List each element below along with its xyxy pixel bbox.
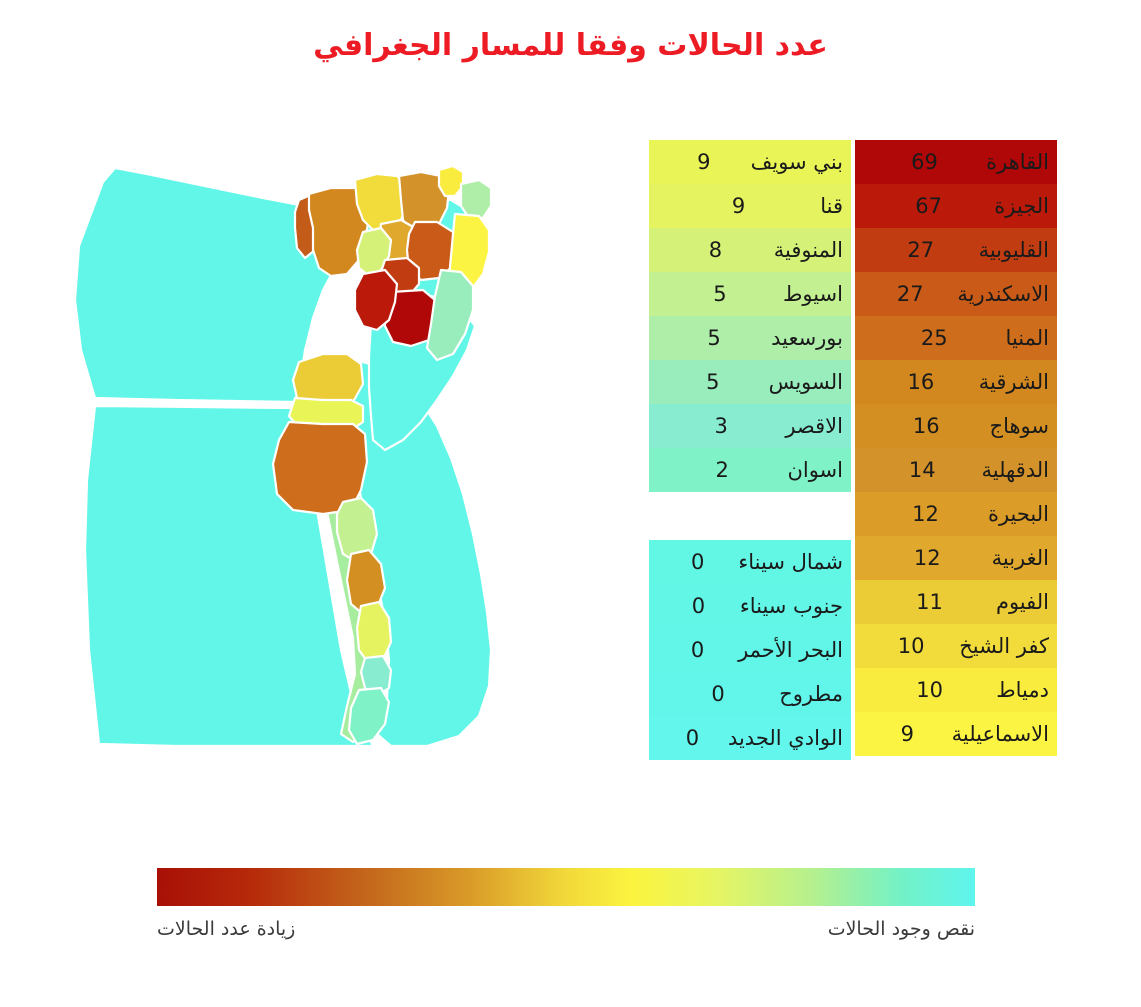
page-title: عدد الحالات وفقا للمسار الجغرافي <box>0 28 1141 64</box>
table-row[interactable]: السويس5 <box>649 360 851 404</box>
table-column-secondary: بني سويف9قنا9المنوفية8اسيوط5بورسعيد5السو… <box>649 140 851 760</box>
governorate-name: جنوب سيناء <box>740 594 843 618</box>
table-row[interactable]: الدقهلية14 <box>855 448 1057 492</box>
map-region-port-said[interactable] <box>461 180 491 218</box>
table-row[interactable]: اسوان2 <box>649 448 851 492</box>
governorate-name: قنا <box>820 194 843 218</box>
color-gradient-bar <box>157 868 975 906</box>
table-row[interactable]: بورسعيد5 <box>649 316 851 360</box>
case-count: 10 <box>863 678 996 702</box>
governorate-name: الغربية <box>992 546 1049 570</box>
case-count: 14 <box>863 458 981 482</box>
case-count: 8 <box>657 238 774 262</box>
governorate-name: البحيرة <box>988 502 1049 526</box>
governorate-name: القليوبية <box>979 238 1049 262</box>
color-scale-legend <box>157 868 975 906</box>
table-row[interactable]: كفر الشيخ10 <box>855 624 1057 668</box>
governorate-name: الجيزة <box>994 194 1049 218</box>
case-count: 11 <box>863 590 996 614</box>
egypt-choropleth-map <box>55 150 635 790</box>
case-count: 27 <box>863 282 957 306</box>
case-count: 9 <box>657 194 820 218</box>
case-count: 2 <box>657 458 787 482</box>
case-count: 69 <box>863 150 986 174</box>
governorate-name: الاسماعيلية <box>952 722 1049 746</box>
table-group-spacer <box>649 492 851 540</box>
legend-label-low: نقص وجود الحالات <box>675 918 975 940</box>
case-count: 5 <box>657 282 783 306</box>
case-count: 16 <box>863 414 990 438</box>
map-region-qena[interactable] <box>357 602 391 664</box>
governorate-name: الوادي الجديد <box>728 726 843 750</box>
cases-by-governorate-table: القاهرة69الجيزة67القليوبية27الاسكندرية27… <box>645 140 1057 800</box>
case-count: 0 <box>657 682 779 706</box>
table-group-secondary-top: بني سويف9قنا9المنوفية8اسيوط5بورسعيد5السو… <box>649 140 851 492</box>
table-column-primary: القاهرة69الجيزة67القليوبية27الاسكندرية27… <box>855 140 1057 756</box>
governorate-name: اسوان <box>787 458 843 482</box>
governorate-name: الشرقية <box>979 370 1049 394</box>
table-row[interactable]: سوهاج16 <box>855 404 1057 448</box>
table-row[interactable]: الوادي الجديد0 <box>649 716 851 760</box>
table-row[interactable]: قنا9 <box>649 184 851 228</box>
case-count: 10 <box>863 634 959 658</box>
table-group-primary: القاهرة69الجيزة67القليوبية27الاسكندرية27… <box>855 140 1057 756</box>
governorate-name: اسيوط <box>783 282 843 306</box>
governorate-name: السويس <box>769 370 843 394</box>
table-row[interactable]: القليوبية27 <box>855 228 1057 272</box>
table-row[interactable]: القاهرة69 <box>855 140 1057 184</box>
governorate-name: الفيوم <box>996 590 1049 614</box>
governorate-name: المنيا <box>1006 326 1049 350</box>
table-row[interactable]: البحيرة12 <box>855 492 1057 536</box>
governorate-name: المنوفية <box>774 238 843 262</box>
case-count: 3 <box>657 414 785 438</box>
map-svg <box>55 150 635 790</box>
table-row[interactable]: الشرقية16 <box>855 360 1057 404</box>
table-row[interactable]: البحر الأحمر0 <box>649 628 851 672</box>
case-count: 0 <box>657 594 740 618</box>
governorate-name: شمال سيناء <box>738 550 843 574</box>
case-count: 9 <box>657 150 751 174</box>
table-row[interactable]: الغربية12 <box>855 536 1057 580</box>
case-count: 16 <box>863 370 979 394</box>
table-row[interactable]: مطروح0 <box>649 672 851 716</box>
case-count: 12 <box>863 502 988 526</box>
case-count: 0 <box>657 550 738 574</box>
table-row[interactable]: اسيوط5 <box>649 272 851 316</box>
table-row[interactable]: المنيا25 <box>855 316 1057 360</box>
governorate-name: دمياط <box>996 678 1049 702</box>
governorate-name: بورسعيد <box>771 326 843 350</box>
governorate-name: البحر الأحمر <box>738 638 843 662</box>
governorate-name: الاسكندرية <box>957 282 1049 306</box>
table-row[interactable]: الفيوم11 <box>855 580 1057 624</box>
governorate-name: مطروح <box>779 682 843 706</box>
table-row[interactable]: الاسكندرية27 <box>855 272 1057 316</box>
map-region-damietta[interactable] <box>439 166 463 196</box>
case-count: 12 <box>863 546 992 570</box>
governorate-name: كفر الشيخ <box>959 634 1049 658</box>
table-row[interactable]: بني سويف9 <box>649 140 851 184</box>
governorate-name: سوهاج <box>990 414 1049 438</box>
case-count: 27 <box>863 238 979 262</box>
case-count: 67 <box>863 194 994 218</box>
governorate-name: بني سويف <box>751 150 843 174</box>
table-row[interactable]: الجيزة67 <box>855 184 1057 228</box>
case-count: 0 <box>657 638 738 662</box>
case-count: 9 <box>863 722 952 746</box>
table-row[interactable]: الاسماعيلية9 <box>855 712 1057 756</box>
governorate-name: الاقصر <box>785 414 843 438</box>
table-row[interactable]: دمياط10 <box>855 668 1057 712</box>
governorate-name: الدقهلية <box>981 458 1049 482</box>
case-count: 0 <box>657 726 728 750</box>
table-row[interactable]: شمال سيناء0 <box>649 540 851 584</box>
table-row[interactable]: المنوفية8 <box>649 228 851 272</box>
legend-label-high: زيادة عدد الحالات <box>157 918 295 940</box>
table-group-secondary-bottom: شمال سيناء0جنوب سيناء0البحر الأحمر0مطروح… <box>649 540 851 760</box>
case-count: 5 <box>657 370 769 394</box>
case-count: 5 <box>657 326 771 350</box>
case-count: 25 <box>863 326 1006 350</box>
table-row[interactable]: جنوب سيناء0 <box>649 584 851 628</box>
table-row[interactable]: الاقصر3 <box>649 404 851 448</box>
governorate-name: القاهرة <box>986 150 1049 174</box>
